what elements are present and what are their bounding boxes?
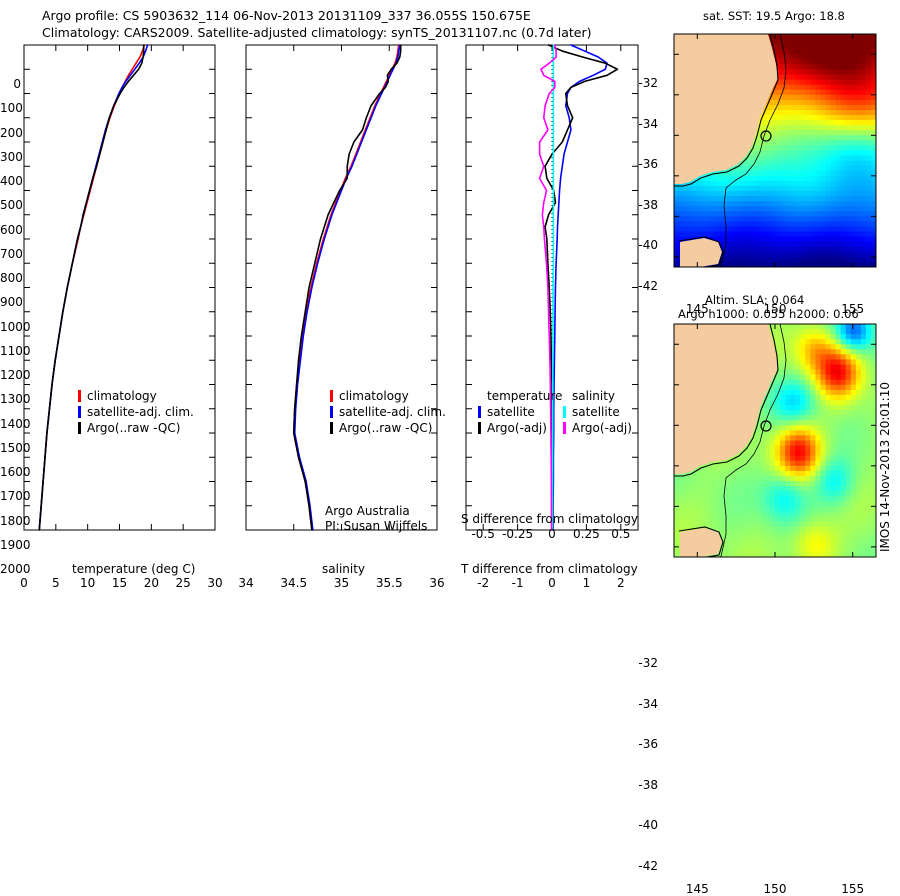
map-cell <box>800 354 806 360</box>
map-cell <box>831 120 837 126</box>
map-cell <box>745 466 751 472</box>
map-cell <box>785 451 791 457</box>
map-cell <box>841 201 847 207</box>
map-cell <box>770 125 776 131</box>
map-cell <box>836 522 842 528</box>
map-cell <box>795 395 801 401</box>
map-cell <box>795 166 801 172</box>
map-cell <box>836 430 842 436</box>
map-cell <box>836 34 842 40</box>
legend-label: climatology <box>87 389 157 403</box>
map-cell <box>861 354 867 360</box>
map-cell <box>831 542 837 548</box>
map-cell <box>740 237 746 243</box>
map-cell <box>805 542 811 548</box>
map-cell <box>856 161 862 167</box>
map-cell <box>790 130 796 136</box>
map-cell <box>740 537 746 543</box>
map-cell <box>750 196 756 202</box>
map-cell <box>785 211 791 217</box>
map-cell <box>861 247 867 253</box>
map-cell <box>826 140 832 146</box>
map-cell <box>826 476 832 482</box>
map-cell <box>836 476 842 482</box>
map-cell <box>795 522 801 528</box>
map-cell <box>800 64 806 70</box>
map-cell <box>856 441 862 447</box>
map-cell <box>730 501 736 507</box>
map-cell <box>846 211 852 217</box>
map-cell <box>836 537 842 543</box>
map-cell <box>800 491 806 497</box>
tick-label: -32 <box>634 76 658 90</box>
map-cell <box>785 329 791 335</box>
map-cell <box>694 501 700 507</box>
map-cell <box>805 125 811 131</box>
map-cell <box>790 125 796 131</box>
map-cell <box>765 110 771 116</box>
map-cell <box>815 105 821 111</box>
map-cell <box>800 191 806 197</box>
map-cell <box>760 257 766 263</box>
map-cell <box>795 125 801 131</box>
map-cell <box>826 441 832 447</box>
map-cell <box>800 537 806 543</box>
map-cell <box>846 242 852 248</box>
map-cell <box>694 216 700 222</box>
map-cell <box>851 161 857 167</box>
map-cell <box>856 380 862 386</box>
map-cell <box>856 75 862 81</box>
map-cell <box>826 344 832 350</box>
timestamp-stamp: IMOS 14-Nov-2013 20:01:10 <box>878 382 892 552</box>
map-cell <box>714 186 720 192</box>
map-cell <box>699 511 705 517</box>
map-cell <box>820 237 826 243</box>
map-cell <box>856 34 862 40</box>
map-cell <box>775 405 781 411</box>
map-cell <box>800 476 806 482</box>
map-cell <box>841 151 847 157</box>
map-cell <box>770 537 776 543</box>
map-cell <box>795 334 801 340</box>
map-cell <box>851 110 857 116</box>
map-cell <box>709 232 715 238</box>
map-cell <box>714 516 720 522</box>
map-cell <box>775 446 781 452</box>
map-cell <box>841 181 847 187</box>
map-cell <box>785 461 791 467</box>
temperature-axes <box>24 45 215 530</box>
map-cell <box>820 145 826 151</box>
map-cell <box>689 496 695 502</box>
tick-label: 800 <box>0 271 21 285</box>
map-cell <box>760 522 766 528</box>
map-cell <box>755 257 761 263</box>
legend-label: satellite-adj. clim. <box>339 405 446 419</box>
map-cell <box>785 216 791 222</box>
map-cell <box>735 542 741 548</box>
map-cell <box>856 69 862 75</box>
map-cell <box>725 252 731 258</box>
map-cell <box>810 80 816 86</box>
map-cell <box>674 527 680 533</box>
map-cell <box>831 85 837 91</box>
map-cell <box>841 481 847 487</box>
map-cell <box>800 206 806 212</box>
map-cell <box>846 125 852 131</box>
map-cell <box>805 435 811 441</box>
map-cell <box>795 85 801 91</box>
map-cell <box>826 435 832 441</box>
map-cell <box>820 211 826 217</box>
map-cell <box>856 522 862 528</box>
map-cell <box>861 329 867 335</box>
map-cell <box>785 44 791 50</box>
map-cell <box>866 354 872 360</box>
map-cell <box>740 186 746 192</box>
map-cell <box>861 486 867 492</box>
tick-label: 35 <box>324 576 360 590</box>
map-cell <box>866 44 872 50</box>
map-cell <box>785 400 791 406</box>
map-cell <box>831 375 837 381</box>
map-cell <box>725 237 731 243</box>
tick-label: 10 <box>74 576 102 590</box>
map-cell <box>745 532 751 538</box>
map-cell <box>765 537 771 543</box>
map-cell <box>790 395 796 401</box>
map-cell <box>866 329 872 335</box>
map-cell <box>775 380 781 386</box>
map-cell <box>684 232 690 238</box>
map-cell <box>684 191 690 197</box>
map-cell <box>841 156 847 162</box>
map-cell <box>740 196 746 202</box>
map-cell <box>795 390 801 396</box>
map-cell <box>740 522 746 528</box>
map-cell <box>800 501 806 507</box>
map-cell <box>765 461 771 467</box>
map-cell <box>780 171 786 177</box>
map-cell <box>810 390 816 396</box>
map-cell <box>775 171 781 177</box>
map-cell <box>810 496 816 502</box>
map-cell <box>831 354 837 360</box>
map-cell <box>861 176 867 182</box>
map-cell <box>820 242 826 248</box>
map-cell <box>770 171 776 177</box>
map-cell <box>861 257 867 263</box>
map-cell <box>795 451 801 457</box>
map-cell <box>689 501 695 507</box>
map-cell <box>815 252 821 258</box>
map-cell <box>826 226 832 232</box>
map-cell <box>851 471 857 477</box>
map-cell <box>795 44 801 50</box>
map-cell <box>785 140 791 146</box>
map-cell <box>841 242 847 248</box>
map-cell <box>820 446 826 452</box>
map-cell <box>836 380 842 386</box>
map-cell <box>841 344 847 350</box>
map-cell <box>795 110 801 116</box>
tick-label: 1700 <box>0 489 21 503</box>
map-cell <box>841 324 847 330</box>
map-cell <box>755 166 761 172</box>
map-cell <box>699 516 705 522</box>
map-cell <box>856 501 862 507</box>
map-cell <box>795 216 801 222</box>
map-cell <box>709 506 715 512</box>
map-cell <box>846 232 852 238</box>
map-cell <box>765 522 771 528</box>
map-cell <box>795 201 801 207</box>
map-cell <box>815 410 821 416</box>
map-cell <box>805 247 811 253</box>
map-cell <box>810 115 816 121</box>
map-cell <box>841 125 847 131</box>
map-cell <box>846 257 852 263</box>
map-cell <box>730 522 736 528</box>
map-cell <box>841 329 847 335</box>
map-cell <box>815 516 821 522</box>
map-cell <box>810 456 816 462</box>
map-cell <box>704 201 710 207</box>
map-cell <box>856 166 862 172</box>
map-cell <box>851 400 857 406</box>
map-cell <box>689 481 695 487</box>
map-cell <box>851 130 857 136</box>
map-cell <box>800 481 806 487</box>
map-cell <box>704 216 710 222</box>
map-cell <box>841 191 847 197</box>
map-cell <box>861 186 867 192</box>
map-cell <box>765 206 771 212</box>
map-cell <box>846 324 852 330</box>
map-cell <box>785 375 791 381</box>
map-cell <box>689 476 695 482</box>
map-cell <box>740 471 746 477</box>
map-cell <box>856 125 862 131</box>
map-cell <box>674 537 680 543</box>
tick-label: 36 <box>419 576 455 590</box>
tick-label: -40 <box>634 818 658 832</box>
map-cell <box>760 471 766 477</box>
tick-label: -36 <box>634 157 658 171</box>
map-cell <box>689 522 695 528</box>
map-cell <box>740 232 746 238</box>
map-cell <box>745 522 751 528</box>
map-cell <box>750 542 756 548</box>
map-cell <box>831 537 837 543</box>
map-cell <box>836 120 842 126</box>
map-cell <box>785 54 791 60</box>
map-cell <box>831 349 837 355</box>
map-cell <box>826 90 832 96</box>
map-cell <box>810 110 816 116</box>
map-cell <box>805 64 811 70</box>
tick-label: 20 <box>137 576 165 590</box>
map-cell <box>800 359 806 365</box>
map-cell <box>805 329 811 335</box>
map-cell <box>785 85 791 91</box>
map-cell <box>851 547 857 553</box>
map-cell <box>810 75 816 81</box>
map-cell <box>790 69 796 75</box>
map-cell <box>800 542 806 548</box>
map-cell <box>836 145 842 151</box>
map-cell <box>699 196 705 202</box>
map-cell <box>775 435 781 441</box>
map-cell <box>790 54 796 60</box>
map-cell <box>770 176 776 182</box>
map-cell <box>826 171 832 177</box>
map-cell <box>790 105 796 111</box>
map-cell <box>735 471 741 477</box>
map-cell <box>856 329 862 335</box>
map-cell <box>826 542 832 548</box>
map-cell <box>730 461 736 467</box>
map-cell <box>785 324 791 330</box>
map-cell <box>765 527 771 533</box>
map-cell <box>719 522 725 528</box>
map-cell <box>770 145 776 151</box>
map-cell <box>770 232 776 238</box>
map-cell <box>699 206 705 212</box>
map-cell <box>826 496 832 502</box>
map-cell <box>679 491 685 497</box>
map-cell <box>805 385 811 391</box>
map-cell <box>800 59 806 65</box>
map-cell <box>775 461 781 467</box>
map-cell <box>735 232 741 238</box>
map-cell <box>750 511 756 517</box>
map-cell <box>846 100 852 106</box>
map-cell <box>866 425 872 431</box>
map-cell <box>790 349 796 355</box>
map-cell <box>851 446 857 452</box>
map-cell <box>780 511 786 517</box>
map-cell <box>866 75 872 81</box>
map-cell <box>709 201 715 207</box>
map-cell <box>846 501 852 507</box>
map-cell <box>851 59 857 65</box>
map-cell <box>790 115 796 121</box>
map-cell <box>805 441 811 447</box>
map-cell <box>861 171 867 177</box>
map-cell <box>866 125 872 131</box>
map-cell <box>790 441 796 447</box>
map-cell <box>810 451 816 457</box>
map-cell <box>805 456 811 462</box>
map-cell <box>836 542 842 548</box>
map-cell <box>810 237 816 243</box>
map-cell <box>689 221 695 227</box>
map-cell <box>775 506 781 512</box>
map-cell <box>866 527 872 533</box>
map-cell <box>866 206 872 212</box>
map-cell <box>851 486 857 492</box>
map-cell <box>826 201 832 207</box>
map-cell <box>785 547 791 553</box>
map-cell <box>866 242 872 248</box>
map-cell <box>820 221 826 227</box>
map-cell <box>826 100 832 106</box>
map-cell <box>780 161 786 167</box>
map-cell <box>790 430 796 436</box>
map-cell <box>780 49 786 55</box>
map-cell <box>856 130 862 136</box>
map-cell <box>851 191 857 197</box>
map-cell <box>820 501 826 507</box>
map-cell <box>785 542 791 548</box>
map-cell <box>826 527 832 533</box>
map-cell <box>709 501 715 507</box>
map-cell <box>780 522 786 528</box>
map-cell <box>851 451 857 457</box>
map-cell <box>831 75 837 81</box>
map-cell <box>730 247 736 253</box>
map-cell <box>841 430 847 436</box>
map-cell <box>851 496 857 502</box>
map-cell <box>770 196 776 202</box>
map-cell <box>755 232 761 238</box>
map-cell <box>785 145 791 151</box>
map-cell <box>810 410 816 416</box>
map-cell <box>704 481 710 487</box>
map-cell <box>770 201 776 207</box>
tick-label: -34 <box>634 697 658 711</box>
map-cell <box>755 511 761 517</box>
map-cell <box>810 156 816 162</box>
map-cell <box>800 430 806 436</box>
map-cell <box>735 532 741 538</box>
panel-difference <box>452 40 652 540</box>
map-cell <box>820 547 826 553</box>
map-cell <box>730 491 736 497</box>
map-cell <box>810 49 816 55</box>
map-cell <box>820 537 826 543</box>
map-cell <box>856 226 862 232</box>
map-cell <box>810 206 816 212</box>
map-cell <box>851 221 857 227</box>
difference-xtick-labels-top: -0.5-0.2500.250.5 <box>452 527 652 543</box>
map-cell <box>760 506 766 512</box>
map-cell <box>810 466 816 472</box>
map-cell <box>856 100 862 106</box>
map-cell <box>775 537 781 543</box>
map-cell <box>775 415 781 421</box>
map-cell <box>815 339 821 345</box>
map-cell <box>810 196 816 202</box>
map-cell <box>780 247 786 253</box>
map-cell <box>795 140 801 146</box>
map-cell <box>810 211 816 217</box>
map-cell <box>790 466 796 472</box>
legend-label: satellite <box>487 405 535 419</box>
legend-swatch-climatology <box>330 390 333 402</box>
map-cell <box>866 516 872 522</box>
map-cell <box>820 181 826 187</box>
map-cell <box>841 354 847 360</box>
map-cell <box>785 90 791 96</box>
map-cell <box>815 196 821 202</box>
map-cell <box>755 216 761 222</box>
map-cell <box>856 247 862 253</box>
map-cell <box>846 451 852 457</box>
map-cell <box>765 186 771 192</box>
